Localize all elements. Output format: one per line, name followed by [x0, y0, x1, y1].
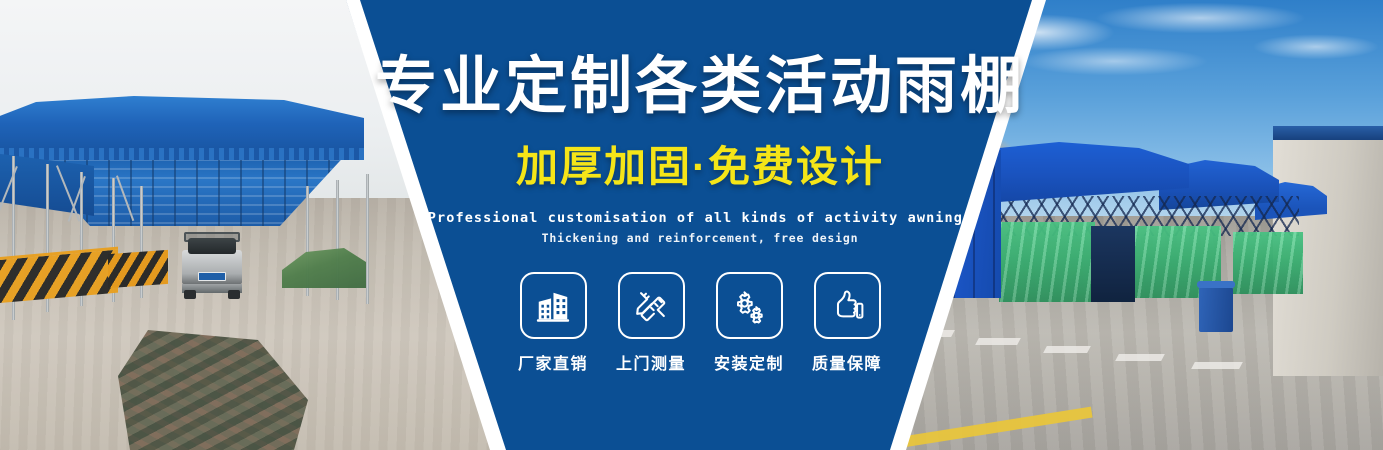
promo-banner: 专业定制各类活动雨棚 加厚加固·免费设计 Professional custom…	[0, 0, 1383, 450]
truck-rear-window	[188, 238, 236, 254]
feature-icon-box[interactable]	[716, 272, 783, 339]
truck-license-plate	[198, 272, 226, 281]
english-tagline-secondary: Thickening and reinforcement, free desig…	[355, 231, 1045, 245]
building-icon	[534, 287, 572, 325]
truck-wheel	[228, 290, 240, 299]
thumbs-up-icon	[828, 287, 866, 325]
right-photo-building-roof-trim	[1273, 126, 1383, 140]
feature-label: 厂家直销	[518, 350, 588, 374]
right-photo-shaded-bay	[1091, 226, 1135, 302]
page-title: 专业定制各类活动雨棚	[355, 56, 1045, 118]
gears-icon	[730, 287, 768, 325]
right-photo-green-tarp	[1233, 232, 1303, 294]
feature-label: 质量保障	[812, 350, 882, 374]
right-photo-parking-stripe	[1191, 362, 1243, 369]
feature-item-factory-direct[interactable]: 厂家直销	[520, 272, 587, 374]
right-photo-parking-stripe	[1043, 346, 1091, 353]
feature-label: 上门测量	[616, 350, 686, 374]
feature-icon-box[interactable]	[618, 272, 685, 339]
left-photo-truck	[176, 232, 248, 298]
left-photo-awning-roof-edge	[0, 148, 364, 160]
english-tagline-primary: Professional customisation of all kinds …	[355, 210, 1045, 226]
left-photo-safety-barrier	[108, 250, 168, 288]
feature-icon-box[interactable]	[520, 272, 587, 339]
feature-label: 安装定制	[714, 350, 784, 374]
right-photo-parking-stripe	[1115, 354, 1165, 361]
ruler-pencil-icon	[632, 287, 670, 325]
feature-item-onsite-measure[interactable]: 上门测量	[618, 272, 685, 374]
feature-icon-box[interactable]	[814, 272, 881, 339]
feature-item-install-custom[interactable]: 安装定制	[716, 272, 783, 374]
truck-wheel	[184, 290, 196, 299]
right-photo-trash-bin	[1199, 286, 1233, 332]
feature-list: 厂家直销 上门测量	[355, 272, 1045, 374]
subtitle: 加厚加固·免费设计	[355, 146, 1045, 188]
feature-item-quality-guarantee[interactable]: 质量保障	[814, 272, 881, 374]
